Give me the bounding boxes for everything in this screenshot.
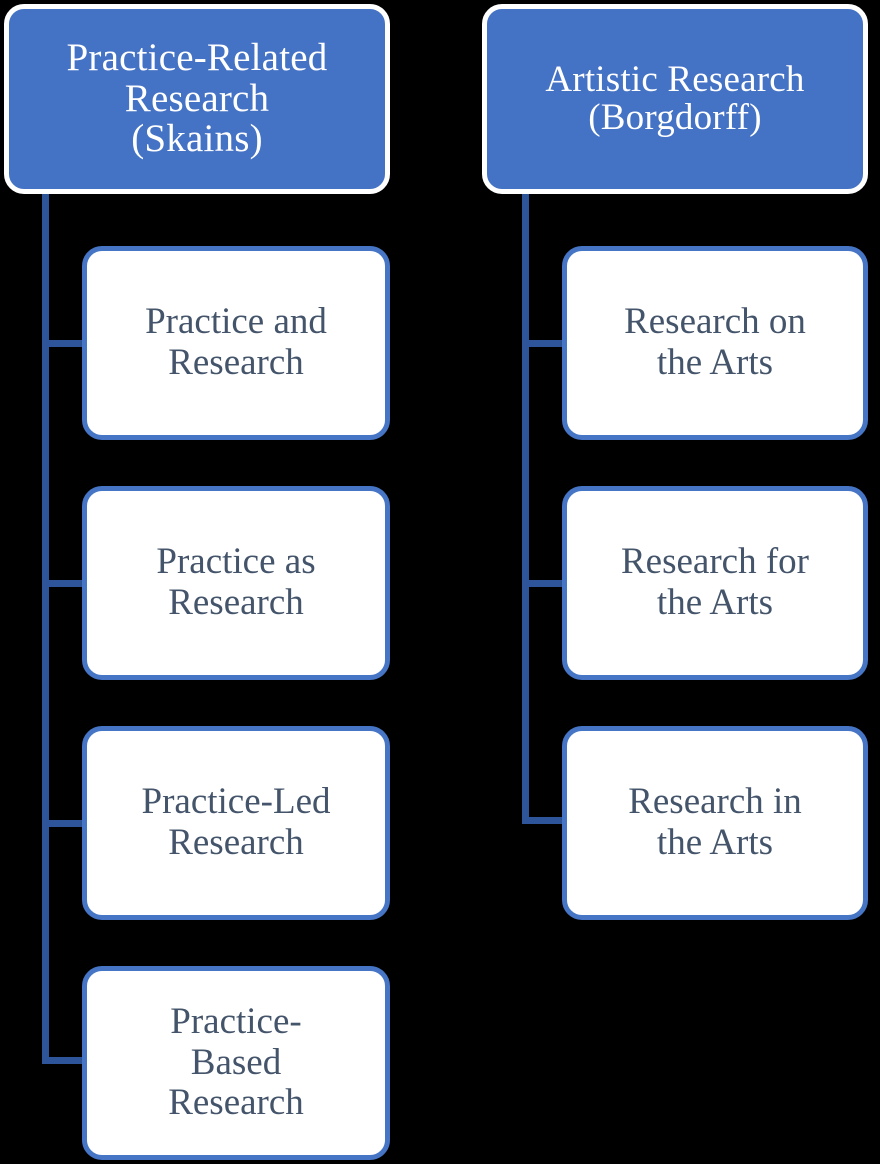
- root-node-artistic-research[interactable]: Artistic Research (Borgdorff): [482, 4, 868, 194]
- child-node-practice-led-research[interactable]: Practice-Led Research: [82, 726, 390, 920]
- child-node-practice-as-research[interactable]: Practice as Research: [82, 486, 390, 680]
- child-node-label: Practice as Research: [87, 542, 385, 623]
- root-node-label: Practice-Related Research (Skains): [9, 38, 385, 160]
- child-node-practice-and-research[interactable]: Practice and Research: [82, 246, 390, 440]
- child-node-label: Research for the Arts: [567, 542, 863, 623]
- root-node-label: Artistic Research (Borgdorff): [487, 61, 863, 138]
- child-node-research-in-the-arts[interactable]: Research in the Arts: [562, 726, 868, 920]
- child-node-label: Practice-Led Research: [87, 782, 385, 863]
- diagram-canvas: Practice-Related Research (Skains) Pract…: [0, 0, 880, 1164]
- root-node-practice-related-research[interactable]: Practice-Related Research (Skains): [4, 4, 390, 194]
- child-node-label: Research in the Arts: [567, 782, 863, 863]
- child-node-research-on-the-arts[interactable]: Research on the Arts: [562, 246, 868, 440]
- connector-trunk-left: [42, 192, 49, 1064]
- child-node-label: Research on the Arts: [567, 302, 863, 383]
- child-node-label: Practice- Based Research: [87, 1002, 385, 1124]
- child-node-label: Practice and Research: [87, 302, 385, 383]
- connector-trunk-right: [522, 192, 529, 824]
- child-node-research-for-the-arts[interactable]: Research for the Arts: [562, 486, 868, 680]
- child-node-practice-based-research[interactable]: Practice- Based Research: [82, 966, 390, 1160]
